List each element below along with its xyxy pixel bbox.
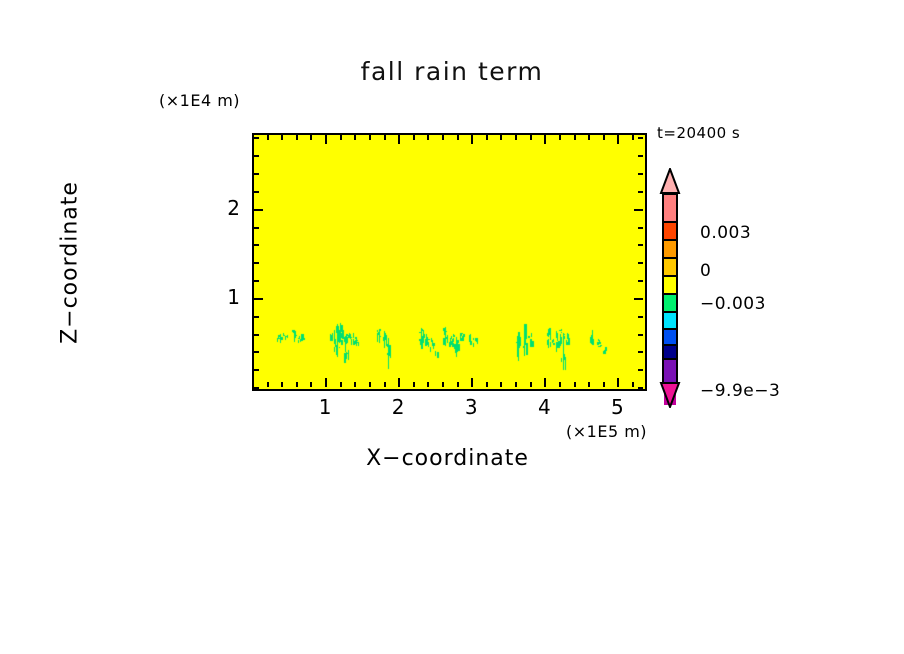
y-tick-label: 1 bbox=[200, 285, 240, 309]
y-tick-minor bbox=[254, 244, 259, 246]
y-axis-unit-label: (×1E4 m) bbox=[159, 91, 240, 110]
colorbar-segment bbox=[664, 239, 676, 257]
colorbar-segment bbox=[664, 358, 676, 382]
y-tick-major-right bbox=[634, 209, 643, 211]
x-axis-unit-label: (×1E5 m) bbox=[566, 422, 647, 441]
x-tick-minor-top bbox=[559, 135, 561, 140]
x-tick-minor-top bbox=[340, 135, 342, 140]
colorbar-tick-label: −9.9e−3 bbox=[700, 381, 780, 401]
x-tick-minor bbox=[340, 382, 342, 387]
x-tick-minor-top bbox=[442, 135, 444, 140]
x-tick-minor-top bbox=[515, 135, 517, 140]
colorbar-segment bbox=[664, 311, 676, 328]
colorbar-body bbox=[662, 193, 678, 383]
y-tick-minor-right bbox=[638, 173, 643, 175]
y-tick-minor bbox=[254, 280, 259, 282]
y-tick-minor-right bbox=[638, 227, 643, 229]
y-tick-minor bbox=[254, 173, 259, 175]
y-tick-minor-right bbox=[638, 137, 643, 139]
x-tick-minor bbox=[603, 382, 605, 387]
x-tick-minor-top bbox=[310, 135, 312, 140]
x-tick-minor bbox=[267, 382, 269, 387]
x-tick-minor-top bbox=[588, 135, 590, 140]
x-tick-minor-top bbox=[354, 135, 356, 140]
y-tick-minor bbox=[254, 334, 259, 336]
x-tick-minor bbox=[413, 382, 415, 387]
x-tick-minor bbox=[369, 382, 371, 387]
x-tick-minor-top bbox=[413, 135, 415, 140]
x-tick-minor bbox=[384, 382, 386, 387]
timestamp-annotation: t=20400 s bbox=[657, 124, 740, 142]
y-tick-minor bbox=[254, 227, 259, 229]
x-tick-minor bbox=[310, 382, 312, 387]
y-tick-minor bbox=[254, 351, 259, 353]
colorbar-cap-bottom bbox=[658, 382, 682, 408]
colorbar-tick-label: −0.003 bbox=[700, 294, 766, 314]
x-tick-minor bbox=[574, 382, 576, 387]
x-tick-minor-top bbox=[296, 135, 298, 140]
x-tick-major bbox=[617, 378, 619, 387]
x-tick-minor bbox=[588, 382, 590, 387]
x-tick-label: 5 bbox=[597, 395, 637, 419]
x-tick-major-top bbox=[471, 135, 473, 144]
x-tick-label: 1 bbox=[305, 395, 345, 419]
x-tick-minor-top bbox=[369, 135, 371, 140]
x-tick-minor-top bbox=[384, 135, 386, 140]
x-tick-major bbox=[325, 378, 327, 387]
plot-area bbox=[252, 133, 647, 391]
x-tick-minor bbox=[500, 382, 502, 387]
x-tick-major-top bbox=[398, 135, 400, 144]
y-tick-minor-right bbox=[638, 244, 643, 246]
y-tick-minor-right bbox=[638, 387, 643, 389]
x-tick-minor bbox=[296, 382, 298, 387]
x-tick-minor-top bbox=[427, 135, 429, 140]
colorbar-segment bbox=[664, 221, 676, 239]
y-tick-major bbox=[254, 298, 263, 300]
y-tick-minor-right bbox=[638, 369, 643, 371]
colorbar bbox=[658, 168, 682, 408]
y-tick-minor bbox=[254, 191, 259, 193]
x-tick-minor bbox=[442, 382, 444, 387]
x-tick-major-top bbox=[617, 135, 619, 144]
x-tick-minor bbox=[427, 382, 429, 387]
x-tick-minor-top bbox=[632, 135, 634, 140]
colorbar-segment bbox=[664, 344, 676, 358]
y-tick-minor bbox=[254, 137, 259, 139]
x-tick-label: 4 bbox=[524, 395, 564, 419]
y-tick-minor-right bbox=[638, 334, 643, 336]
y-tick-minor-right bbox=[638, 316, 643, 318]
x-tick-label: 3 bbox=[451, 395, 491, 419]
y-tick-minor bbox=[254, 262, 259, 264]
y-tick-minor bbox=[254, 369, 259, 371]
x-tick-label: 2 bbox=[378, 395, 418, 419]
colorbar-cap-top bbox=[658, 168, 682, 194]
y-tick-minor bbox=[254, 387, 259, 389]
colorbar-segment bbox=[664, 195, 676, 221]
x-tick-minor-top bbox=[500, 135, 502, 140]
y-tick-minor-right bbox=[638, 351, 643, 353]
x-tick-major-top bbox=[325, 135, 327, 144]
x-tick-minor bbox=[457, 382, 459, 387]
x-tick-minor bbox=[281, 382, 283, 387]
x-tick-minor-top bbox=[530, 135, 532, 140]
x-tick-major-top bbox=[544, 135, 546, 144]
y-tick-label: 2 bbox=[200, 196, 240, 220]
x-axis-title: X−coordinate bbox=[252, 446, 643, 471]
y-axis-title: Z−coordinate bbox=[58, 133, 83, 393]
x-tick-minor-top bbox=[281, 135, 283, 140]
x-tick-minor bbox=[559, 382, 561, 387]
colorbar-segment bbox=[664, 328, 676, 344]
colorbar-tick-label: 0.003 bbox=[700, 223, 751, 243]
y-tick-minor bbox=[254, 316, 259, 318]
x-tick-minor-top bbox=[486, 135, 488, 140]
figure-canvas: fall rain term (×1E4 m) (×1E5 m) t=20400… bbox=[0, 0, 904, 654]
x-tick-minor-top bbox=[603, 135, 605, 140]
page-title: fall rain term bbox=[0, 57, 904, 86]
y-tick-major bbox=[254, 209, 263, 211]
colorbar-segment bbox=[664, 257, 676, 275]
x-tick-minor-top bbox=[457, 135, 459, 140]
y-tick-minor-right bbox=[638, 280, 643, 282]
contour-field bbox=[254, 135, 645, 389]
colorbar-segment bbox=[664, 293, 676, 311]
x-tick-minor bbox=[486, 382, 488, 387]
x-tick-major bbox=[544, 378, 546, 387]
x-tick-minor-top bbox=[267, 135, 269, 140]
y-tick-minor-right bbox=[638, 191, 643, 193]
x-tick-major bbox=[471, 378, 473, 387]
x-tick-minor-top bbox=[574, 135, 576, 140]
y-tick-minor bbox=[254, 155, 259, 157]
x-tick-minor bbox=[632, 382, 634, 387]
x-tick-major bbox=[398, 378, 400, 387]
x-tick-minor bbox=[530, 382, 532, 387]
x-tick-minor bbox=[354, 382, 356, 387]
x-tick-minor bbox=[515, 382, 517, 387]
y-tick-minor-right bbox=[638, 262, 643, 264]
colorbar-segment bbox=[664, 275, 676, 293]
y-tick-major-right bbox=[634, 298, 643, 300]
y-tick-minor-right bbox=[638, 155, 643, 157]
colorbar-tick-label: 0 bbox=[700, 261, 711, 281]
